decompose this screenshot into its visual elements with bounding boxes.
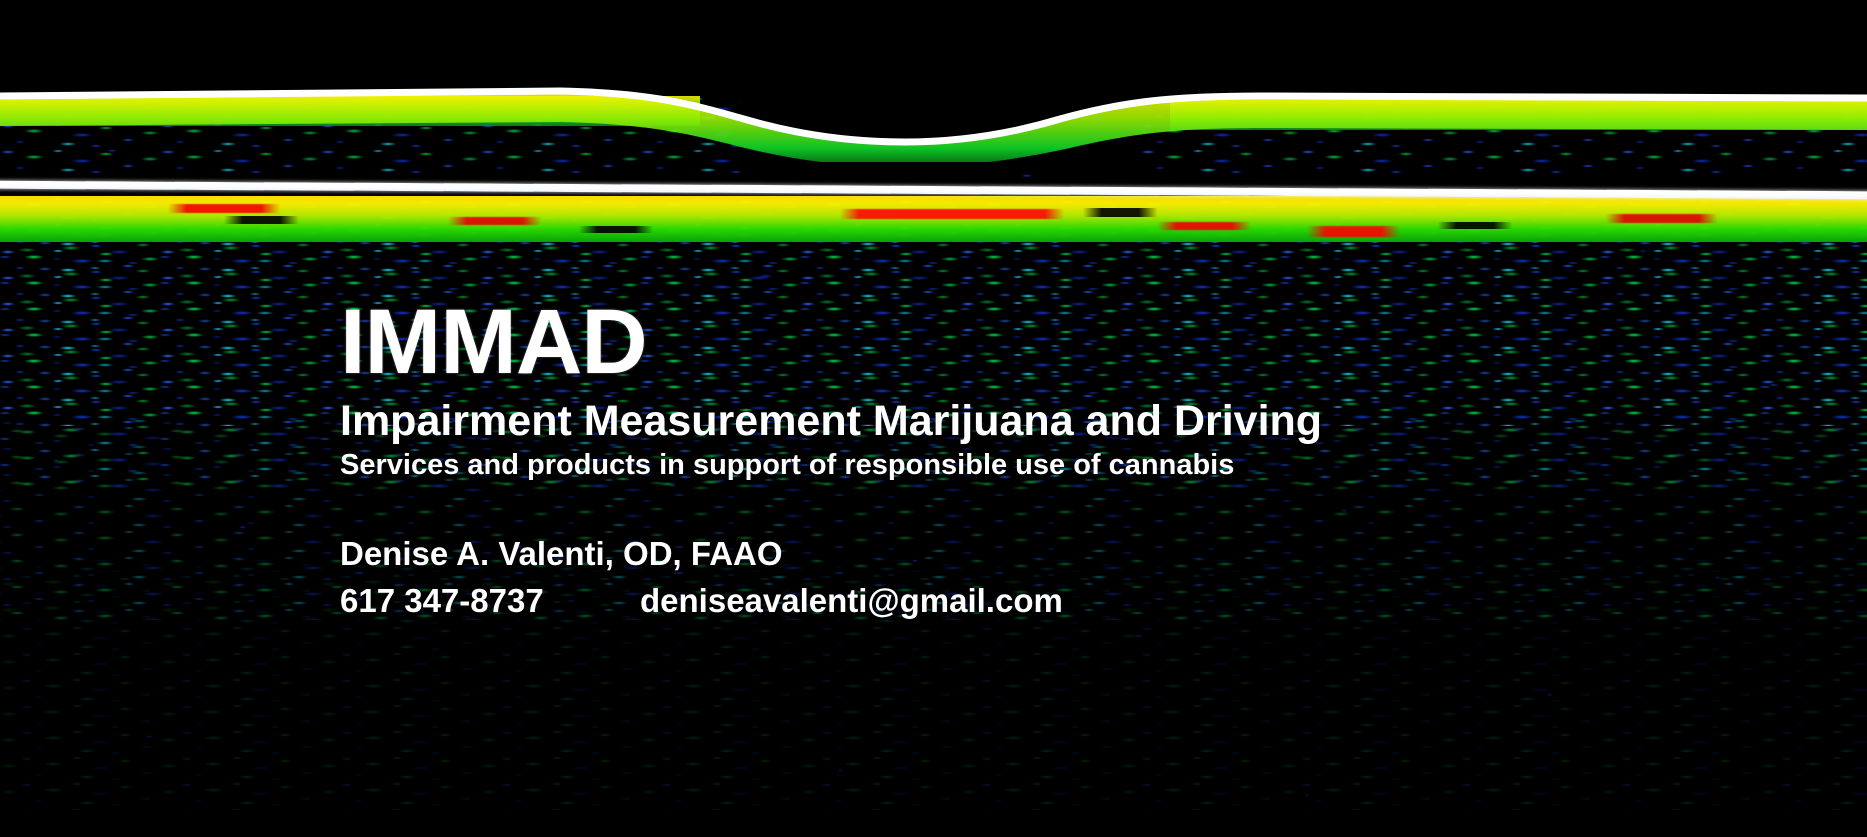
ilm-curve-svg xyxy=(0,52,1867,162)
brand-expansion: Impairment Measurement Marijuana and Dri… xyxy=(340,399,1460,445)
ilm-color-band xyxy=(0,92,1867,162)
ilm-surface-layer xyxy=(0,52,1867,162)
contact-name: Denise A. Valenti, OD, FAAO xyxy=(340,534,1460,574)
contact-email[interactable]: deniseavalenti@gmail.com xyxy=(640,582,1063,620)
brand-acronym: IMMAD xyxy=(340,300,1460,385)
hot-band-dark-gaps xyxy=(0,202,1867,242)
brand-tagline: Services and products in support of resp… xyxy=(340,450,1460,482)
oct-banner-canvas: IMMAD Impairment Measurement Marijuana a… xyxy=(0,0,1867,837)
contact-phone[interactable]: 617 347-8737 xyxy=(340,582,640,620)
contact-row: 617 347-8737 deniseavalenti@gmail.com xyxy=(340,582,1460,620)
banner-text-block: IMMAD Impairment Measurement Marijuana a… xyxy=(340,300,1460,620)
contact-block: Denise A. Valenti, OD, FAAO 617 347-8737… xyxy=(340,534,1460,620)
